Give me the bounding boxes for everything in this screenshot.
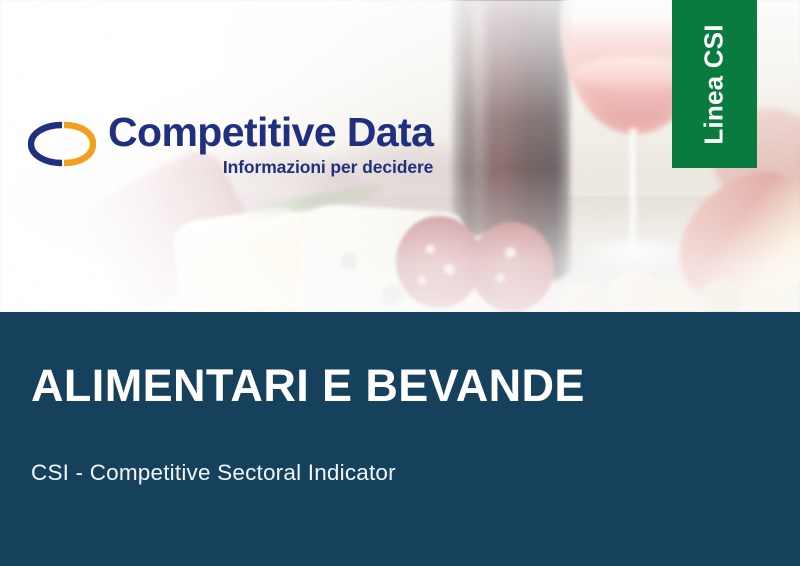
page-title: ALIMENTARI E BEVANDE [31,362,585,409]
brand-logo: Competitive Data Informazioni per decide… [28,112,433,177]
brand-wordmark: Competitive Data Informazioni per decide… [108,112,433,177]
linea-csi-ribbon: Linea CSI [672,0,757,168]
report-cover: Linea CSI Competitive Data Informazioni … [0,0,800,566]
ribbon-label: Linea CSI [699,24,730,144]
title-panel [0,312,800,566]
brand-name: Competitive Data [108,112,433,153]
brand-tagline: Informazioni per decidere [223,159,433,177]
page-subtitle: CSI - Competitive Sectoral Indicator [31,459,396,486]
competitive-data-ellipse-mark [28,121,96,167]
